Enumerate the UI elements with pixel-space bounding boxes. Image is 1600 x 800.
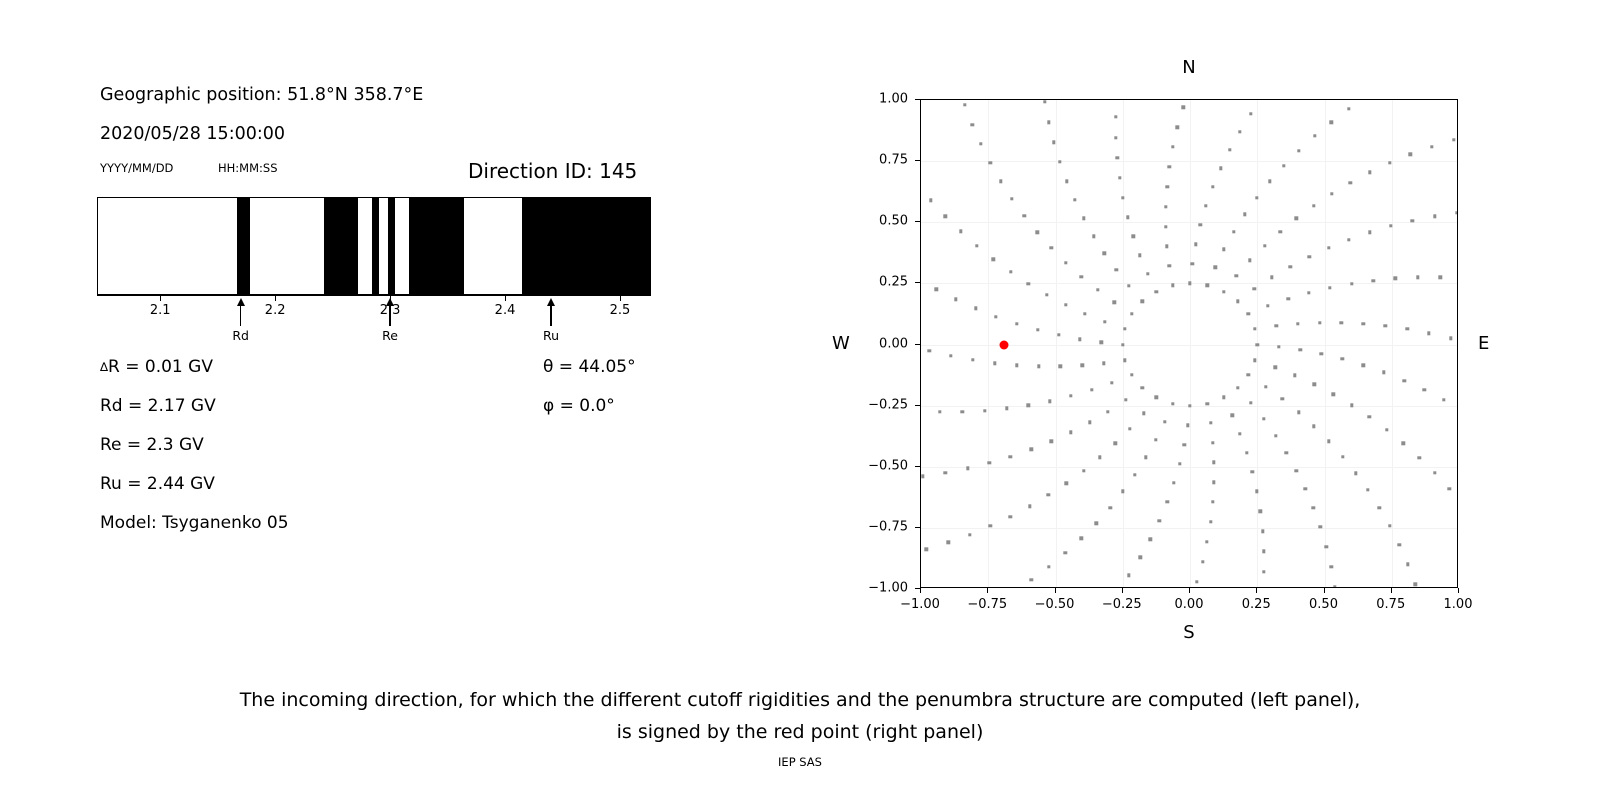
direction-dot (1340, 321, 1343, 324)
direction-dot (935, 287, 938, 290)
direction-dot (1103, 252, 1106, 255)
direction-dot (1212, 480, 1215, 483)
direction-dot (1247, 373, 1250, 376)
direction-dot (999, 180, 1002, 183)
x-axis-tick-label: 0.00 (1175, 597, 1204, 612)
direction-dot (1411, 219, 1414, 222)
direction-dot (1191, 262, 1194, 265)
direction-dot (1188, 404, 1191, 407)
direction-dot (1103, 320, 1106, 323)
direction-dot (1277, 345, 1280, 348)
parameter-item: θ = 44.05° (543, 357, 636, 377)
direction-dot (1249, 112, 1252, 115)
penumbra-axis-tick-label: 2.2 (265, 303, 286, 318)
direction-dot (1130, 373, 1133, 376)
direction-dot (1123, 359, 1126, 362)
direction-dot (1027, 404, 1030, 407)
direction-dot (1114, 115, 1117, 118)
grid-line-horizontal (921, 467, 1457, 468)
direction-dot (1195, 580, 1198, 583)
direction-dot (1168, 165, 1171, 168)
direction-dot (1297, 411, 1300, 414)
direction-dot (992, 258, 995, 261)
direction-dot (1058, 160, 1061, 163)
x-axis-tick (1189, 588, 1190, 593)
direction-dot (1222, 396, 1225, 399)
direction-dot (1273, 366, 1276, 369)
penumbra-axis-tick-label: 2.1 (150, 303, 171, 318)
direction-dot (1350, 404, 1353, 407)
direction-dot (1158, 519, 1161, 522)
direction-dot (1243, 213, 1246, 216)
direction-dot (1330, 120, 1333, 123)
direction-dot (1138, 253, 1141, 256)
direction-dot (929, 198, 932, 201)
geographic-position-text: Geographic position: 51.8°N 358.7°E (100, 85, 423, 105)
direction-dot (983, 409, 986, 412)
direction-dot (1312, 506, 1315, 509)
direction-dot (1422, 388, 1425, 391)
direction-dot (1319, 525, 1322, 528)
direction-dot (1164, 205, 1167, 208)
x-axis-tick (1391, 588, 1392, 593)
direction-dot (1330, 192, 1333, 195)
direction-dot (1282, 164, 1285, 167)
direction-dot (1262, 570, 1265, 573)
direction-dot (1289, 265, 1292, 268)
direction-dot (1222, 247, 1225, 250)
direction-dot (1251, 470, 1254, 473)
direction-dot (1080, 275, 1083, 278)
direction-dot (1092, 234, 1095, 237)
direction-dot (1245, 451, 1248, 454)
direction-dot (1128, 427, 1131, 430)
direction-dot (1312, 204, 1315, 207)
direction-dot (1256, 343, 1259, 346)
direction-dot (1362, 364, 1365, 367)
direction-dot (1402, 442, 1405, 445)
direction-dot (938, 410, 941, 413)
direction-dot (1270, 276, 1273, 279)
direction-dot (971, 123, 974, 126)
grid-line-vertical (988, 100, 989, 587)
direction-dot (1146, 272, 1149, 275)
direction-dot (1255, 490, 1258, 493)
direction-dot (1354, 471, 1357, 474)
direction-dot (1235, 274, 1238, 277)
direction-dot (1165, 185, 1168, 188)
x-axis-tick-label: −0.75 (967, 597, 1007, 612)
direction-dot (1163, 420, 1166, 423)
x-axis-tick (920, 588, 921, 593)
direction-dot (1327, 246, 1330, 249)
x-axis-tick (987, 588, 988, 593)
direction-dot (1139, 556, 1142, 559)
direction-dot (1222, 290, 1225, 293)
direction-dot (1009, 515, 1012, 518)
datetime-text: 2020/05/28 15:00:00 (100, 124, 285, 144)
direction-dot (1124, 398, 1127, 401)
direction-dot (1059, 365, 1062, 368)
direction-dot (1452, 138, 1455, 141)
direction-dot (968, 533, 971, 536)
direction-dot (1114, 268, 1117, 271)
direction-dot (1211, 441, 1214, 444)
y-axis-tick-label: 0.25 (879, 275, 908, 290)
direction-dot (1064, 551, 1067, 554)
direction-dot (1406, 563, 1409, 566)
direction-dot (1398, 543, 1401, 546)
direction-dot (1253, 359, 1256, 362)
direction-dot (1368, 171, 1371, 174)
direction-dot (1372, 279, 1375, 282)
direction-dot (1406, 327, 1409, 330)
direction-dot (1427, 331, 1430, 334)
direction-dot (1275, 324, 1278, 327)
direction-dot (1348, 181, 1351, 184)
direction-dot (1389, 224, 1392, 227)
time-format-hint: HH:MM:SS (218, 161, 278, 175)
direction-dot (1438, 275, 1441, 278)
direction-dot (1037, 365, 1040, 368)
direction-dot (1171, 284, 1174, 287)
direction-dot (1385, 428, 1388, 431)
direction-dot (989, 161, 992, 164)
direction-dot (1341, 357, 1344, 360)
direction-dot (1065, 482, 1068, 485)
direction-dot (1100, 341, 1103, 344)
penumbra-forbidden-band (409, 198, 464, 294)
direction-dot (1015, 322, 1018, 325)
grid-line-vertical (1325, 100, 1326, 587)
direction-dot (1368, 415, 1371, 418)
direction-dot (1188, 282, 1191, 285)
x-axis-tick-label: −0.25 (1102, 597, 1142, 612)
y-axis-tick (915, 344, 920, 345)
direction-dot (1094, 522, 1097, 525)
direction-dot (1165, 500, 1168, 503)
direction-dot (1045, 293, 1048, 296)
direction-dot (1036, 230, 1039, 233)
parameter-item: Re = 2.3 GV (100, 435, 204, 455)
footer-credit: IEP SAS (0, 755, 1600, 769)
direction-dot (944, 214, 947, 217)
compass-label-east: E (1478, 333, 1489, 354)
direction-dot (1047, 120, 1050, 123)
direction-dot (1447, 487, 1450, 490)
direction-dot (1312, 425, 1315, 428)
direction-dot (1155, 290, 1158, 293)
direction-dot (1219, 167, 1222, 170)
direction-dot (1274, 434, 1277, 437)
rigidity-marker-label: Rd (232, 328, 249, 343)
caption-line-2: is signed by the red point (right panel) (0, 716, 1600, 748)
direction-dot (954, 298, 957, 301)
direction-dot (1264, 385, 1267, 388)
direction-dot (1347, 238, 1350, 241)
direction-dot (1262, 550, 1265, 553)
parameter-item: Rd = 2.17 GV (100, 396, 216, 416)
sky-map-panel: N S W E −1.00−0.75−0.50−0.250.000.250.50… (800, 0, 1600, 680)
direction-dot (1080, 537, 1083, 540)
direction-dot (1149, 538, 1152, 541)
direction-dot (1350, 282, 1353, 285)
y-axis-tick (915, 405, 920, 406)
direction-dot (1307, 255, 1310, 258)
compass-label-south: S (1183, 622, 1194, 643)
direction-dot (1298, 348, 1301, 351)
y-axis-tick (915, 221, 920, 222)
direction-dot (1064, 261, 1067, 264)
penumbra-axis: 2.12.22.32.42.5 (97, 295, 651, 296)
y-axis-tick-label: −0.50 (868, 458, 908, 473)
direction-dot (1281, 397, 1284, 400)
y-axis-tick (915, 282, 920, 283)
direction-dot (1047, 493, 1050, 496)
rigidity-marker-arrow-icon (547, 298, 555, 306)
direction-dot (1201, 560, 1204, 563)
direction-dot (1327, 440, 1330, 443)
direction-dot (1065, 180, 1068, 183)
direction-dot (1409, 153, 1412, 156)
direction-dot (1181, 106, 1184, 109)
penumbra-axis-tick (620, 295, 621, 301)
direction-dot (1414, 583, 1417, 586)
direction-dot (1268, 180, 1271, 183)
direction-dot (1010, 197, 1013, 200)
direction-dot (1127, 573, 1130, 576)
penumbra-bar-wrapper (97, 197, 651, 295)
x-axis-tick-label: 0.75 (1376, 597, 1405, 612)
direction-dot (1366, 488, 1369, 491)
direction-dot (1132, 235, 1135, 238)
direction-dot (1186, 423, 1189, 426)
direction-dot (1328, 286, 1331, 289)
direction-dot (1211, 500, 1214, 503)
grid-line-horizontal (921, 161, 1457, 162)
direction-dot (1123, 327, 1126, 330)
direction-dot (1388, 161, 1391, 164)
direction-dot (1178, 462, 1181, 465)
grid-line-vertical (1190, 100, 1191, 587)
direction-dot (1253, 287, 1256, 290)
direction-dot (1029, 578, 1032, 581)
direction-dot (1050, 246, 1053, 249)
y-axis-tick-label: 0.50 (879, 214, 908, 229)
direction-dot (949, 354, 952, 357)
direction-dot (1304, 487, 1307, 490)
direction-dot (1442, 398, 1445, 401)
rigidity-marker-line (550, 306, 551, 326)
penumbra-forbidden-band (237, 198, 251, 294)
direction-dot (1172, 481, 1175, 484)
direction-dot (1194, 243, 1197, 246)
direction-dot (1333, 586, 1336, 588)
direction-dot (1069, 431, 1072, 434)
direction-dot (1255, 196, 1258, 199)
rigidity-marker-arrow-icon (237, 298, 245, 306)
direction-dot (1384, 324, 1387, 327)
direction-dot (1206, 402, 1209, 405)
direction-dot (1293, 374, 1296, 377)
direction-dot (1214, 265, 1217, 268)
direction-dot (1238, 130, 1241, 133)
x-axis-tick (1122, 588, 1123, 593)
penumbra-forbidden-band (324, 198, 358, 294)
direction-dot (1098, 456, 1101, 459)
direction-dot (1048, 399, 1051, 402)
direction-dot (1133, 473, 1136, 476)
x-axis-tick-label: 1.00 (1444, 597, 1473, 612)
direction-dot (1262, 417, 1265, 420)
x-axis-tick-label: −1.00 (900, 597, 940, 612)
direction-id-text: Direction ID: 145 (468, 159, 637, 183)
parameter-item: Model: Tsyganenko 05 (100, 513, 289, 533)
y-axis-tick-label: −0.75 (868, 519, 908, 534)
direction-dot (1064, 303, 1067, 306)
direction-dot (1295, 217, 1298, 220)
direction-dot (1418, 456, 1421, 459)
direction-dot (1287, 297, 1290, 300)
direction-dot (944, 471, 947, 474)
compass-label-west: W (832, 333, 850, 354)
direction-dot (1154, 438, 1157, 441)
direction-dot (1206, 284, 1209, 287)
grid-line-horizontal (921, 528, 1457, 529)
direction-dot (1209, 520, 1212, 523)
rigidity-marker-label: Re (382, 328, 398, 343)
direction-dot (1212, 461, 1215, 464)
direction-dot (1082, 217, 1085, 220)
direction-dot (975, 244, 978, 247)
grid-line-vertical (1056, 100, 1057, 587)
direction-dot (1141, 300, 1144, 303)
y-axis-tick-label: 0.75 (879, 153, 908, 168)
direction-dot (1261, 529, 1264, 532)
direction-dot (921, 475, 924, 478)
direction-dot (974, 307, 977, 310)
parameter-item: Ru = 2.44 GV (100, 474, 215, 494)
direction-dot (1141, 386, 1144, 389)
direction-dot (1382, 371, 1385, 374)
direction-dot (1259, 509, 1262, 512)
penumbra-forbidden-band (522, 198, 651, 294)
direction-dot (1144, 456, 1147, 459)
direction-dot (1325, 545, 1328, 548)
penumbra-axis-tick (160, 295, 161, 301)
direction-dot (1211, 185, 1214, 188)
grid-line-vertical (1392, 100, 1393, 587)
x-axis-tick (1324, 588, 1325, 593)
figure-caption: The incoming direction, for which the di… (0, 684, 1600, 748)
direction-dot (1183, 443, 1186, 446)
y-axis-tick-label: −0.25 (868, 397, 908, 412)
x-axis-tick (1256, 588, 1257, 593)
direction-dot (1295, 469, 1298, 472)
direction-dot (1121, 490, 1124, 493)
direction-dot (1209, 421, 1212, 424)
x-axis-tick (1055, 588, 1056, 593)
direction-dot (927, 349, 930, 352)
direction-dot (966, 467, 969, 470)
direction-dot (1263, 244, 1266, 247)
penumbra-forbidden-band (372, 198, 379, 294)
direction-dot (1318, 321, 1321, 324)
y-axis-tick-label: −1.00 (868, 581, 908, 596)
direction-dot (1236, 386, 1239, 389)
direction-dot (1080, 364, 1083, 367)
direction-dot (1278, 230, 1281, 233)
direction-dot (1127, 284, 1130, 287)
direction-dot (1285, 451, 1288, 454)
x-axis-tick (1458, 588, 1459, 593)
direction-dot (1082, 469, 1085, 472)
direction-dot (1106, 410, 1109, 413)
direction-dot (924, 548, 927, 551)
direction-dot (1114, 442, 1117, 445)
selected-direction-marker[interactable] (1000, 340, 1009, 349)
direction-dot (1433, 471, 1436, 474)
rigidity-marker-line (240, 306, 241, 326)
direction-dot (1320, 352, 1323, 355)
direction-dot (1330, 565, 1333, 568)
penumbra-panel: Geographic position: 51.8°N 358.7°E 2020… (0, 0, 800, 680)
penumbra-bar (97, 197, 651, 295)
direction-dot (1088, 421, 1091, 424)
rigidity-marker-line (389, 306, 390, 326)
x-axis-tick-label: −0.50 (1035, 597, 1075, 612)
direction-dot (1028, 505, 1031, 508)
direction-dot (1313, 134, 1316, 137)
direction-dot (1118, 176, 1121, 179)
direction-dot (1228, 148, 1231, 151)
direction-dot (1362, 322, 1365, 325)
direction-dot (1027, 282, 1030, 285)
direction-dot (1253, 327, 1256, 330)
direction-dot (1057, 333, 1060, 336)
y-axis-tick (915, 527, 920, 528)
direction-dot (1368, 231, 1371, 234)
direction-dot (1015, 364, 1018, 367)
direction-dot (1176, 125, 1179, 128)
direction-dot (994, 315, 997, 318)
direction-dot (1052, 141, 1055, 144)
direction-dot (1341, 455, 1344, 458)
direction-dot (971, 358, 974, 361)
direction-dot (1313, 383, 1316, 386)
direction-dot (1102, 362, 1105, 365)
direction-dot (1231, 414, 1234, 417)
grid-line-horizontal (921, 222, 1457, 223)
penumbra-axis-tick (275, 295, 276, 301)
direction-dot (1005, 407, 1008, 410)
direction-dot (1043, 100, 1046, 103)
direction-dot (1296, 322, 1299, 325)
direction-dot (963, 103, 966, 106)
direction-dot (1347, 107, 1350, 110)
parameter-item: φ = 0.0° (543, 396, 615, 416)
direction-dot (1165, 245, 1168, 248)
direction-dot (1394, 277, 1397, 280)
direction-dot (1403, 379, 1406, 382)
direction-dot (1236, 300, 1239, 303)
direction-dot (988, 461, 991, 464)
penumbra-forbidden-band (388, 198, 395, 294)
direction-dot (1047, 565, 1050, 568)
direction-dot (1331, 393, 1334, 396)
rigidity-marker-arrow-icon (386, 298, 394, 306)
penumbra-axis-tick-label: 2.5 (610, 303, 631, 318)
